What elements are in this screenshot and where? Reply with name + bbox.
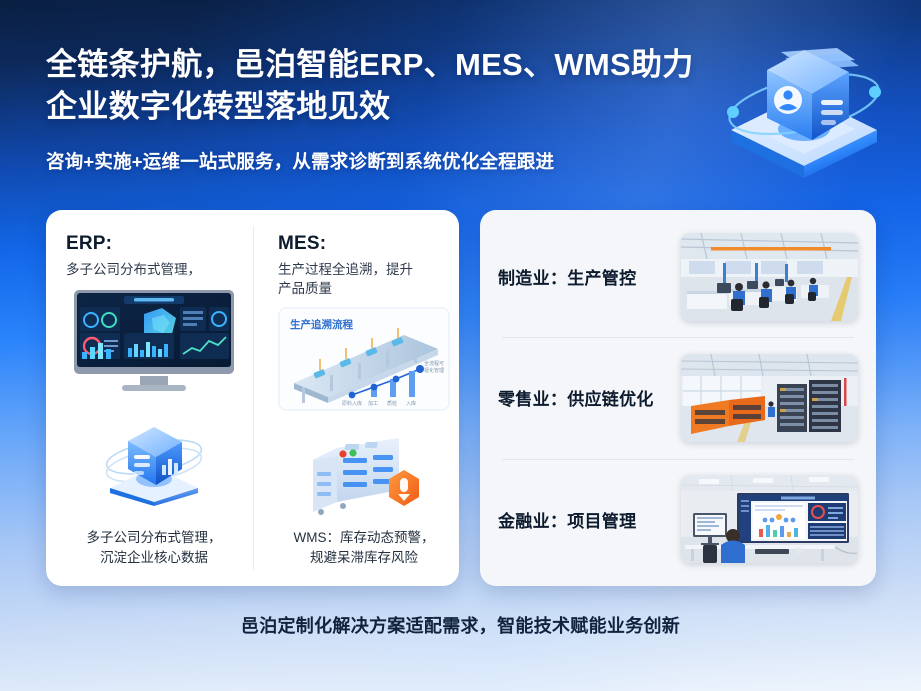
svg-text:加工: 加工 — [368, 400, 378, 407]
svg-text:视化管理: 视化管理 — [424, 367, 444, 374]
server-cube-3d-icon — [709, 26, 899, 186]
industry-label: 零售业：供应链优化 — [498, 385, 667, 410]
solutions-card: ERP: 多子公司分布式管理， — [46, 210, 459, 586]
industry-row-finance[interactable]: 金融业：项目管理 — [498, 459, 858, 580]
poster-root: 全链条护航，邑泊智能ERP、MES、WMS助力 企业数字化转型落地见效 咨询+实… — [0, 0, 921, 691]
warehouse-racks-photo — [681, 354, 858, 442]
mes-description-line1: 生产过程全追溯，提升 — [278, 260, 450, 279]
erp-footer-line2: 沉淀企业核心数据 — [66, 548, 242, 568]
svg-text:生产追溯流程: 生产追溯流程 — [290, 318, 353, 331]
page-title: 全链条护航，邑泊智能ERP、MES、WMS助力 企业数字化转型落地见效 — [46, 44, 706, 128]
mes-column: MES: 生产过程全追溯，提升 产品质量 生产追溯流 — [258, 210, 466, 586]
data-cube-3d-icon — [66, 394, 242, 528]
page-title-line1: 全链条护航，邑泊智能ERP、MES、WMS助力 — [46, 44, 706, 86]
svg-text:原料入库: 原料入库 — [342, 400, 362, 407]
wms-footer-caption: WMS：库存动态预警， 规避呆滞库存风险 — [278, 528, 450, 570]
svg-text:全流程可: 全流程可 — [424, 360, 444, 367]
header: 全链条护航，邑泊智能ERP、MES、WMS助力 企业数字化转型落地见效 咨询+实… — [46, 44, 706, 174]
page-subtitle: 咨询+实施+运维一站式服务，从需求诊断到系统优化全程跟进 — [46, 148, 706, 174]
mes-description-line2: 产品质量 — [278, 279, 450, 298]
industry-label: 制造业：生产管控 — [498, 264, 667, 289]
erp-column: ERP: 多子公司分布式管理， — [46, 210, 258, 586]
control-room-dashboard-photo — [681, 475, 858, 563]
mes-production-line-illustration: 生产追溯流程 — [278, 307, 450, 411]
industries-card: 制造业：生产管控 — [480, 210, 876, 586]
page-title-line2: 企业数字化转型落地见效 — [46, 86, 706, 128]
warehouse-rack-3d-icon — [278, 411, 450, 528]
erp-title: ERP: — [66, 232, 242, 256]
wms-footer-line2: 规避呆滞库存风险 — [278, 548, 450, 568]
svg-text:入库: 入库 — [406, 400, 416, 407]
erp-footer-line1: 多子公司分布式管理， — [66, 528, 242, 548]
industry-row-retail[interactable]: 零售业：供应链优化 — [498, 337, 858, 458]
mes-description: 生产过程全追溯，提升 产品质量 — [278, 260, 450, 298]
svg-text:质检: 质检 — [387, 400, 397, 407]
wms-footer-line1: WMS：库存动态预警， — [278, 528, 450, 548]
factory-workshop-photo — [681, 233, 858, 321]
footer-slogan: 邑泊定制化解决方案适配需求，智能技术赋能业务创新 — [0, 612, 921, 638]
erp-dashboard-monitor-illustration — [66, 288, 242, 394]
mes-title: MES: — [278, 232, 450, 256]
industry-label: 金融业：项目管理 — [498, 507, 667, 532]
industry-row-manufacturing[interactable]: 制造业：生产管控 — [498, 216, 858, 337]
erp-description: 多子公司分布式管理， — [66, 260, 242, 279]
erp-footer-caption: 多子公司分布式管理， 沉淀企业核心数据 — [66, 528, 242, 570]
cards-row: ERP: 多子公司分布式管理， — [46, 210, 876, 586]
